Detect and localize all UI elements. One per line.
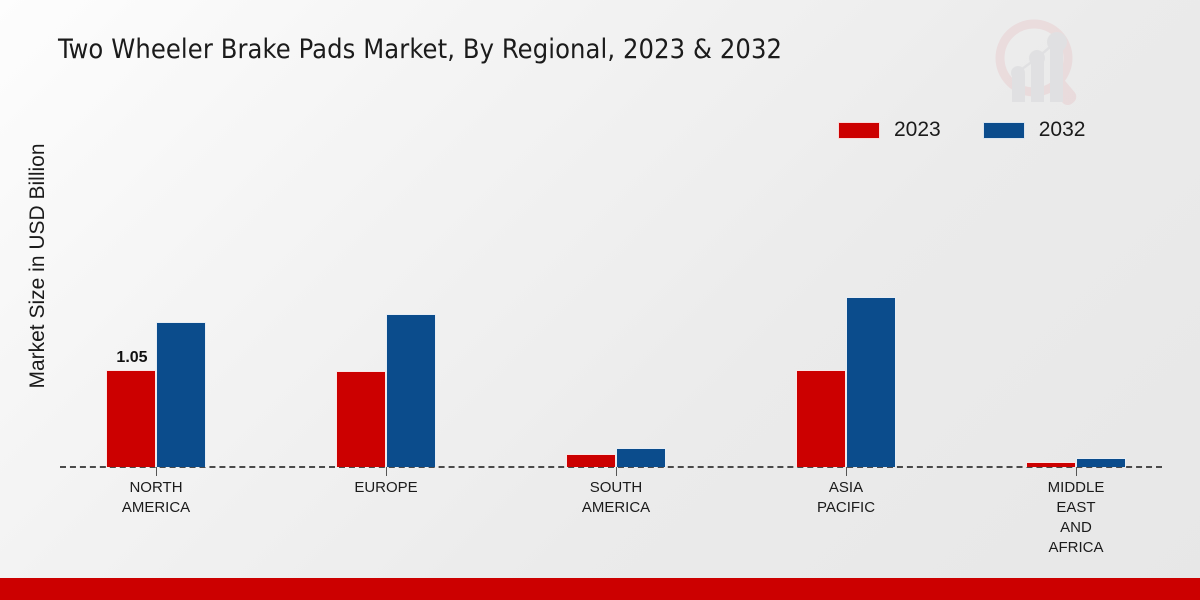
bar-2023[interactable]: 1.05 xyxy=(106,370,156,467)
bar-group xyxy=(566,147,666,467)
bar-rect[interactable] xyxy=(846,297,896,467)
x-axis-tick xyxy=(846,467,847,476)
x-axis-tick xyxy=(1076,467,1077,476)
category-label-line: NORTH xyxy=(71,478,241,498)
x-axis-category-label: EUROPE xyxy=(301,478,471,498)
bar-rect[interactable] xyxy=(566,454,616,467)
category-label-line: EAST xyxy=(991,498,1161,518)
category-label-line: EUROPE xyxy=(301,478,471,498)
bar-rect[interactable] xyxy=(156,322,206,467)
bar-rect[interactable] xyxy=(616,448,666,467)
bar-group xyxy=(796,147,896,467)
category-label-line: AFRICA xyxy=(991,538,1161,558)
bar-group xyxy=(1026,147,1126,467)
x-axis-tick xyxy=(616,467,617,476)
bar-2032[interactable] xyxy=(846,297,896,467)
bar-value-label: 1.05 xyxy=(106,349,158,370)
bar-rect[interactable] xyxy=(796,370,846,467)
bar-rect[interactable] xyxy=(386,314,436,467)
plot-area: 1.05 NORTHAMERICAEUROPESOUTHAMERICAASIAP… xyxy=(0,0,1200,600)
x-axis-tick xyxy=(156,467,157,476)
category-label-line: AMERICA xyxy=(71,498,241,518)
bar-group: 1.05 xyxy=(106,147,206,467)
x-axis-category-label: ASIAPACIFIC xyxy=(761,478,931,518)
bar-2023[interactable] xyxy=(1026,462,1076,467)
bar-rect[interactable] xyxy=(1026,462,1076,467)
category-label-line: ASIA xyxy=(761,478,931,498)
bar-group xyxy=(336,147,436,467)
bar-2023[interactable] xyxy=(566,454,616,467)
bar-2023[interactable] xyxy=(336,371,386,467)
bar-rect[interactable] xyxy=(1076,458,1126,467)
category-label-line: SOUTH xyxy=(531,478,701,498)
category-label-line: PACIFIC xyxy=(761,498,931,518)
bar-2023[interactable] xyxy=(796,370,846,467)
bar-rect[interactable] xyxy=(336,371,386,467)
chart-container: Two Wheeler Brake Pads Market, By Region… xyxy=(0,0,1200,600)
bar-2032[interactable] xyxy=(386,314,436,467)
category-label-line: AMERICA xyxy=(531,498,701,518)
footer-bar xyxy=(0,578,1200,600)
category-label-line: AND xyxy=(991,518,1161,538)
x-axis-category-label: NORTHAMERICA xyxy=(71,478,241,518)
x-axis-tick xyxy=(386,467,387,476)
bar-2032[interactable] xyxy=(616,448,666,467)
bar-2032[interactable] xyxy=(1076,458,1126,467)
x-axis-category-label: MIDDLEEASTANDAFRICA xyxy=(991,478,1161,558)
bar-2032[interactable] xyxy=(156,322,206,467)
bar-rect[interactable] xyxy=(106,370,156,467)
category-label-line: MIDDLE xyxy=(991,478,1161,498)
x-axis-category-label: SOUTHAMERICA xyxy=(531,478,701,518)
